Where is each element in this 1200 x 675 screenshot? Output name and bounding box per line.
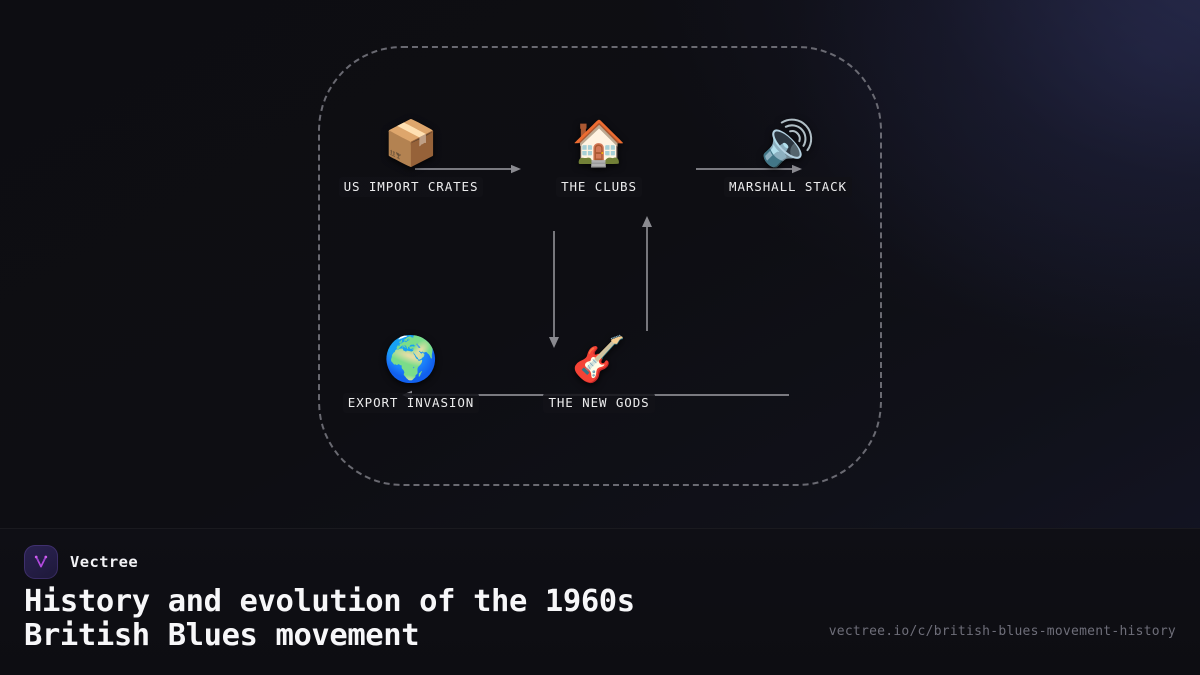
node-export-invasion[interactable]: 🌍 EXPORT INVASION [331,334,491,413]
brand[interactable]: Vectree [24,545,138,579]
globe-icon: 🌍 [331,334,491,386]
electric-guitar-icon: 🎸 [519,334,679,386]
node-label: THE NEW GODS [543,393,654,413]
package-box-icon: 📦 [331,118,491,170]
node-label: MARSHALL STACK [724,177,852,197]
node-the-new-gods[interactable]: 🎸 THE NEW GODS [519,334,679,413]
house-icon: 🏠 [519,118,679,170]
vectree-logo-icon [24,545,58,579]
node-label: EXPORT INVASION [343,393,479,413]
node-label: US IMPORT CRATES [339,177,484,197]
diagram-canvas: 📦 US IMPORT CRATES 🏠 THE CLUBS 🔊 MARSHAL… [0,0,1200,528]
share-card: 📦 US IMPORT CRATES 🏠 THE CLUBS 🔊 MARSHAL… [0,0,1200,675]
node-marshall-stack[interactable]: 🔊 MARSHALL STACK [708,118,868,197]
page-title: History and evolution of the 1960s Briti… [24,585,794,653]
diagram-edges [0,0,1200,528]
loudspeaker-icon: 🔊 [708,118,868,170]
footer: Vectree History and evolution of the 196… [0,528,1200,675]
footer-url: vectree.io/c/british-blues-movement-hist… [829,624,1176,639]
node-us-import-crates[interactable]: 📦 US IMPORT CRATES [331,118,491,197]
node-label: THE CLUBS [556,177,642,197]
node-the-clubs[interactable]: 🏠 THE CLUBS [519,118,679,197]
brand-name: Vectree [70,553,138,571]
